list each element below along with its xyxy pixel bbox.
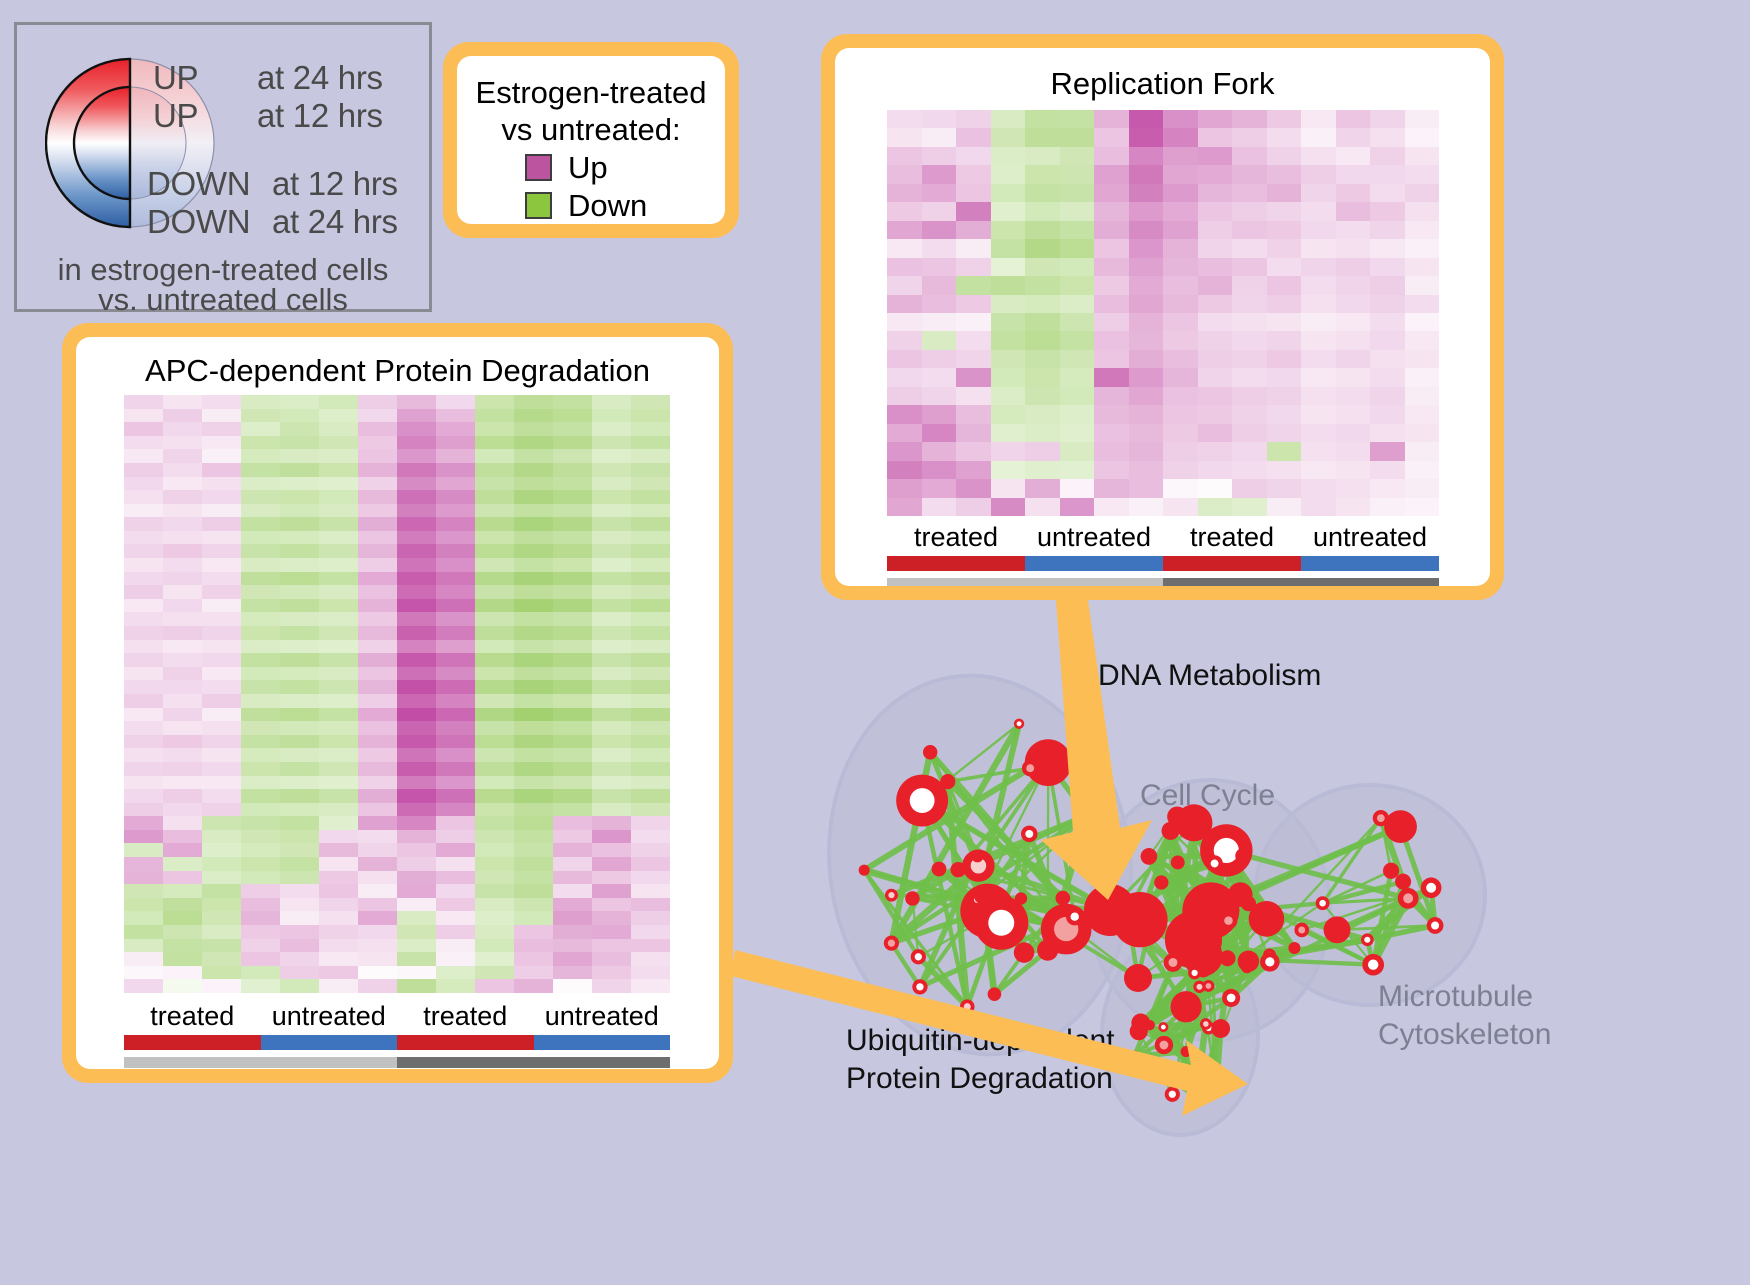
arrow-replication-fork [1041,600,1152,900]
callout-arrows [0,0,1750,1279]
arrow-apc-degradation [731,950,1248,1116]
